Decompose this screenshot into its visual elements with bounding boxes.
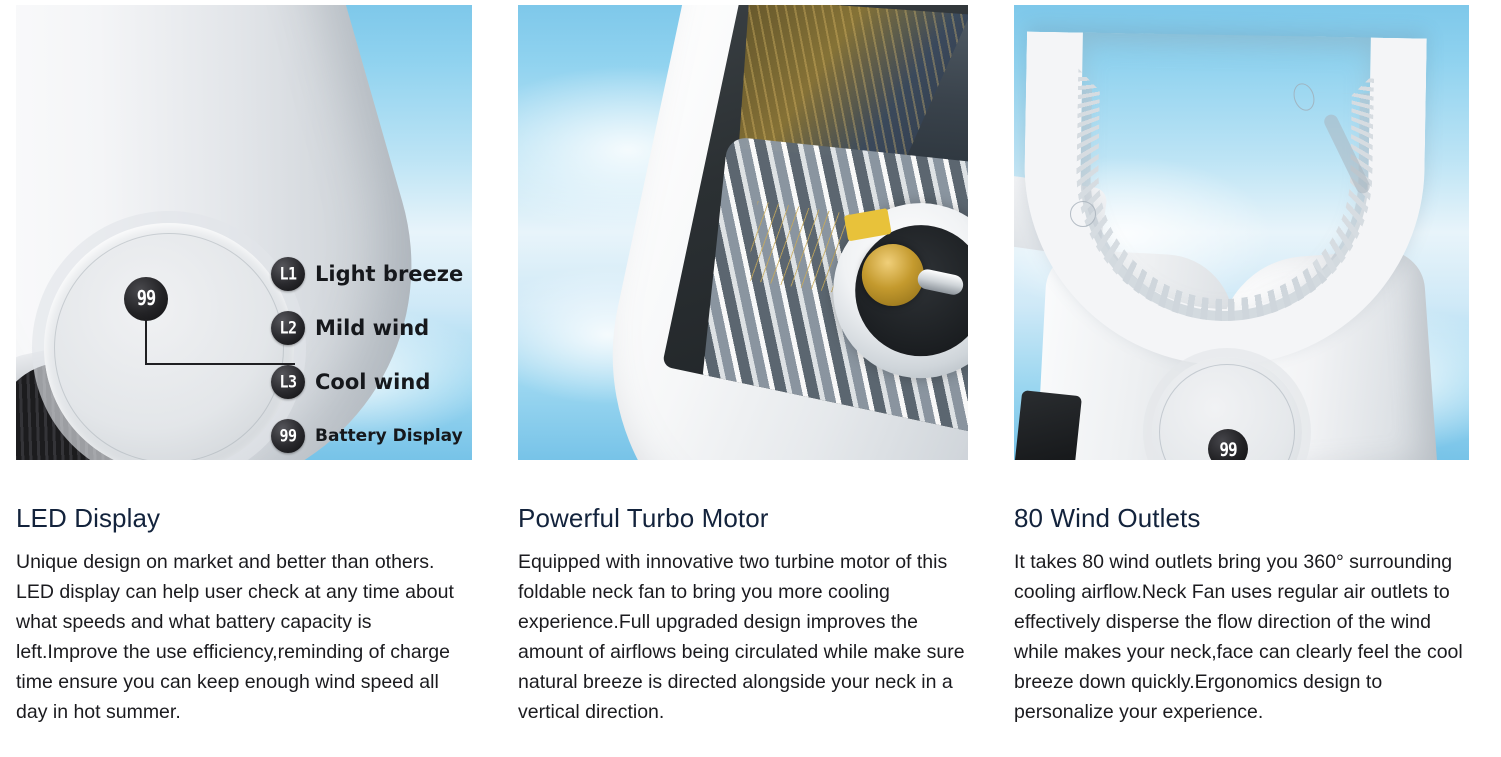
- legend-badge-l2-icon: L2: [271, 311, 305, 345]
- legend-label: Cool wind: [315, 370, 430, 394]
- power-button-icon: [1070, 201, 1096, 227]
- legend-item: 99 Battery Display: [271, 419, 472, 453]
- legend-item: L2 Mild wind: [271, 311, 472, 345]
- legend-badge-l1-icon: L1: [271, 257, 305, 291]
- led-indicator-value: 99: [1219, 438, 1236, 460]
- legend-badge-text: L1: [279, 264, 296, 285]
- legend-label: Mild wind: [315, 316, 429, 340]
- feature-column-turbo-motor: Powerful Turbo Motor Equipped with innov…: [518, 5, 968, 727]
- legend-badge-text: L2: [279, 318, 296, 339]
- feature-image-turbo-motor: [518, 5, 968, 460]
- feature-column-wind-outlets: 99 80 Wind Outlets It takes 80 wind outl…: [1014, 5, 1469, 727]
- feature-description: Equipped with innovative two turbine mot…: [518, 547, 968, 727]
- legend-item: L1 Light breeze: [271, 257, 472, 291]
- feature-heading: 80 Wind Outlets: [1014, 504, 1469, 534]
- legend-badge-text: L3: [279, 372, 296, 393]
- legend-badge-text: 99: [279, 426, 296, 447]
- feature-image-led-display: 99 L1 Light breeze L2 Mild wind: [16, 5, 472, 460]
- feature-description: Unique design on market and better than …: [16, 547, 472, 727]
- led-indicator-icon: 99: [124, 277, 168, 321]
- control-knob: [44, 223, 294, 460]
- feature-grid: 99 L1 Light breeze L2 Mild wind: [0, 0, 1501, 727]
- feature-column-led-display: 99 L1 Light breeze L2 Mild wind: [16, 5, 472, 727]
- dark-grille-detail: [1014, 390, 1082, 460]
- led-indicator-value: 99: [137, 287, 155, 311]
- led-legend: L1 Light breeze L2 Mild wind L3 Cool win…: [271, 257, 472, 460]
- legend-item: L3 Cool wind: [271, 365, 472, 399]
- legend-badge-l3-icon: L3: [271, 365, 305, 399]
- feature-heading: Powerful Turbo Motor: [518, 504, 968, 534]
- control-knob-ring: [54, 233, 284, 460]
- feature-image-wind-outlets: 99: [1014, 5, 1469, 460]
- feature-heading: LED Display: [16, 504, 472, 534]
- feature-description: It takes 80 wind outlets bring you 360° …: [1014, 547, 1476, 727]
- legend-label: Light breeze: [315, 262, 463, 286]
- legend-badge-battery-icon: 99: [271, 419, 305, 453]
- legend-label: Battery Display: [315, 426, 463, 446]
